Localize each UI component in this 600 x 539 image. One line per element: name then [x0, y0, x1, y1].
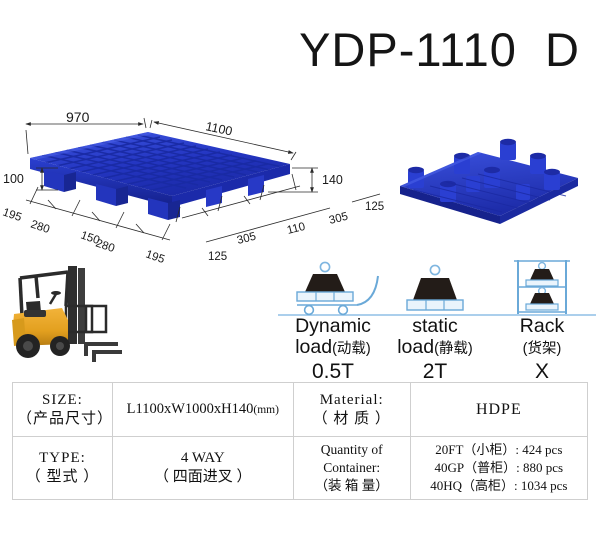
load-dynamic-en: load [295, 336, 332, 358]
dim-width-top: 970 [66, 112, 90, 125]
static-load-icon [385, 258, 485, 316]
spec-table: SIZE: （产品尺寸） L1100xW1000xH140(mm) Materi… [12, 382, 588, 500]
quantity-label: Quantity of Container: （装 箱 量） [293, 437, 410, 500]
size-value-text: L1100xW1000xH140 [127, 401, 254, 417]
load-rack-cn: (货架) [523, 341, 562, 357]
dim-deck-height: 100 [3, 172, 24, 186]
load-capacity-row: Dynamic load(动载) 0.5T static load(静载) 2T [278, 258, 596, 380]
pallet-top-view-graphic [30, 132, 290, 220]
size-label: SIZE: （产品尺寸） [13, 383, 113, 437]
rack-load-icon [490, 258, 594, 316]
load-static-line1: static [385, 316, 485, 337]
dim-front-1: 195 [1, 206, 23, 224]
load-dynamic-line2: load(动载) [278, 337, 388, 360]
load-rack-line2: (货架) [490, 337, 594, 360]
load-dynamic-line1: Dynamic [278, 316, 388, 337]
product-spec-sheet: YDP-1110 D [0, 0, 600, 539]
size-unit: (mm) [253, 404, 279, 416]
load-dynamic-value: 0.5T [278, 360, 388, 383]
load-static-value: 2T [385, 360, 485, 383]
dim-front-4: 280 [94, 237, 116, 255]
pallet-bottom-view-graphic [400, 139, 578, 224]
page-title: YDP-1110 D [0, 22, 580, 77]
dim-side-3: 110 [286, 221, 307, 237]
size-value: L1100xW1000xH140(mm) [112, 383, 293, 437]
load-static-cn: (静载) [434, 341, 473, 357]
load-static-en: load [397, 336, 434, 358]
table-row: TYPE: （ 型式 ） 4 WAY （ 四面进叉 ） Quantity of … [13, 437, 588, 500]
load-rack: Rack (货架) X [490, 258, 594, 383]
load-static: static load(静载) 2T [385, 258, 485, 383]
type-value: 4 WAY （ 四面进叉 ） [112, 437, 293, 500]
dim-side-4: 305 [328, 211, 350, 227]
material-label: Material: （ 材 质 ） [293, 383, 410, 437]
dim-front-5: 195 [144, 248, 166, 264]
material-value: HDPE [410, 383, 587, 437]
dim-side-1: 125 [208, 251, 227, 263]
dim-total-height: 140 [322, 173, 343, 187]
dim-side-5: 125 [365, 201, 384, 213]
load-dynamic-cn: (动载) [332, 341, 371, 357]
load-dynamic: Dynamic load(动载) 0.5T [278, 258, 388, 383]
load-rack-line1: Rack [490, 316, 594, 337]
dynamic-load-icon [278, 258, 388, 316]
load-rack-value: X [490, 360, 594, 383]
technical-drawing: 970 1100 100 140 195 280 150 280 195 125… [0, 112, 600, 262]
quantity-value: 20FT（小柜）: 424 pcs 40GP（普柜）: 880 pcs 40HQ… [410, 437, 587, 500]
load-static-line2: load(静载) [385, 337, 485, 360]
dim-front-2: 280 [29, 218, 51, 236]
dim-length-top: 1100 [204, 119, 233, 138]
forklift-photo [6, 258, 126, 376]
type-label: TYPE: （ 型式 ） [13, 437, 113, 500]
table-row: SIZE: （产品尺寸） L1100xW1000xH140(mm) Materi… [13, 383, 588, 437]
